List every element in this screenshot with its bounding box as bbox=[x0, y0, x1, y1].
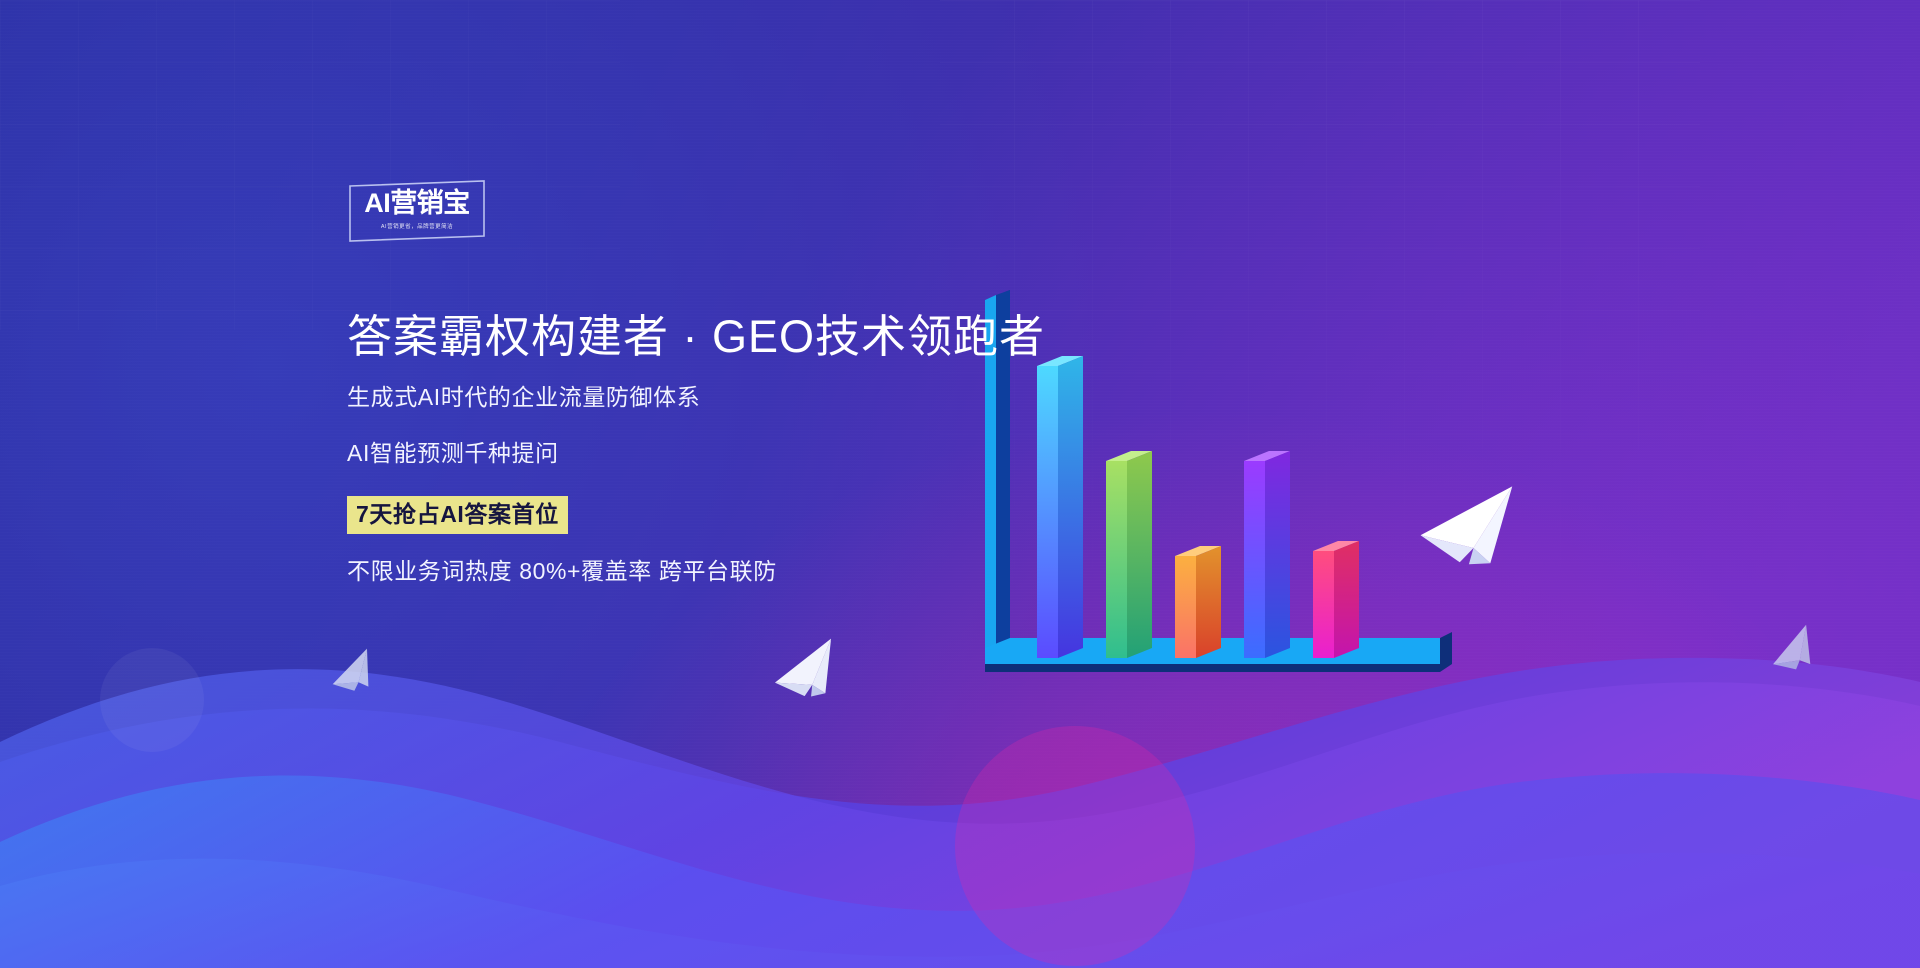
subline-2: AI智能预测千种提问 bbox=[347, 440, 1047, 468]
hero-content: AI营销宝 AI营销更省，品牌营更简洁 答案霸权构建者 · GEO技术领跑者 生… bbox=[347, 180, 1047, 614]
paper-plane-icon-left bbox=[326, 649, 384, 702]
subline-3-wrapper: 7天抢占AI答案首位 bbox=[347, 496, 1047, 559]
subline-4: 不限业务词热度 80%+覆盖率 跨平台联防 bbox=[347, 558, 1047, 586]
logo-wordmark: AI营销宝 bbox=[355, 190, 479, 217]
subline-3-highlight: 7天抢占AI答案首位 bbox=[347, 496, 568, 535]
paper-plane-icon-center bbox=[768, 639, 850, 711]
subline-1: 生成式AI时代的企业流量防御体系 bbox=[347, 384, 1047, 412]
logo-tagline: AI营销更省，品牌营更简洁 bbox=[355, 222, 479, 230]
paper-plane-icon-far-right bbox=[1766, 625, 1827, 682]
paper-plane-icon-right bbox=[1414, 486, 1529, 578]
marketing-banner: AI营销宝 AI营销更省，品牌营更简洁 答案霸权构建者 · GEO技术领跑者 生… bbox=[0, 0, 1920, 968]
page-title: 答案霸权构建者 · GEO技术领跑者 bbox=[347, 312, 1047, 362]
brand-logo[interactable]: AI营销宝 AI营销更省，品牌营更简洁 bbox=[347, 180, 487, 242]
